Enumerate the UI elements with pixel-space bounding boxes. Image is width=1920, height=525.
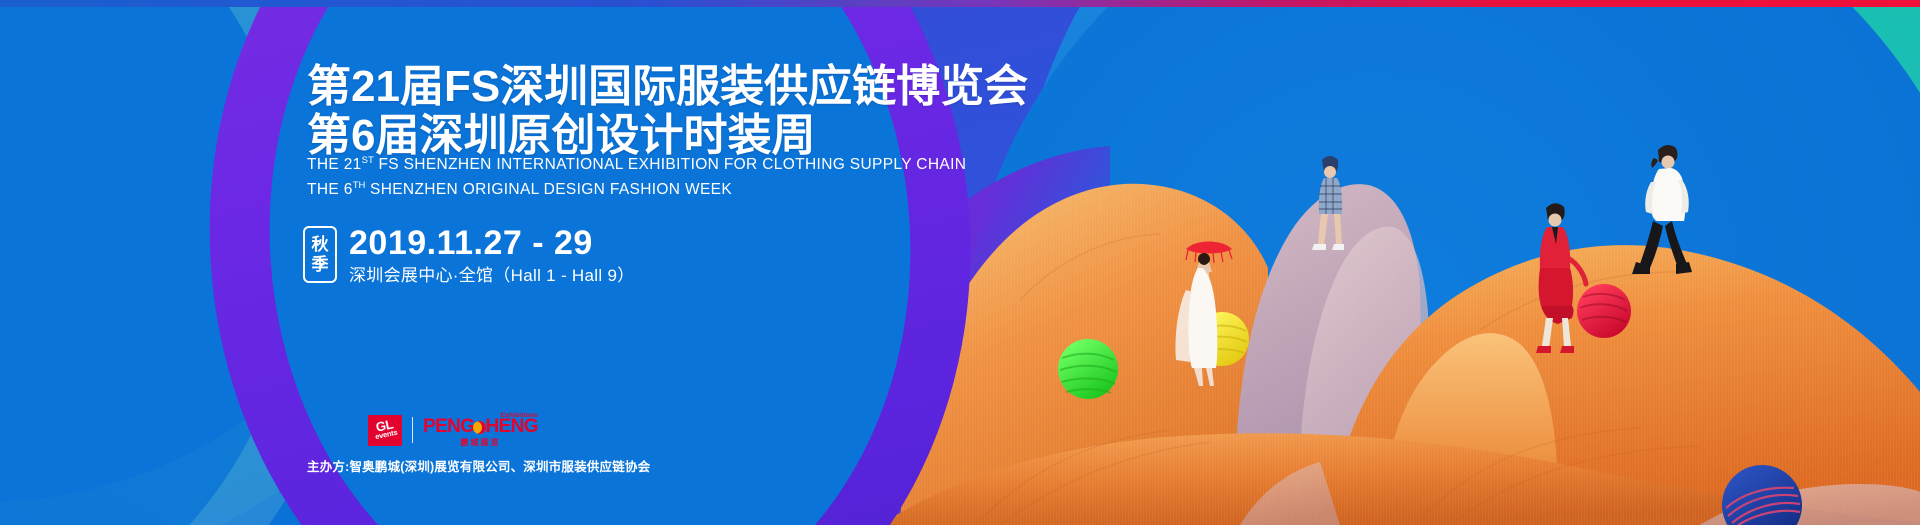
- event-date: 2019.11.27 - 29: [349, 224, 635, 262]
- subtitle-line-2-post: SHENZHEN ORIGINAL DESIGN FASHION WEEK: [365, 181, 732, 198]
- subtitle-line-2-pre: THE 6: [307, 181, 353, 198]
- subtitle-line-1-pre: THE 21: [307, 156, 362, 173]
- subtitle-line-1-ordinal: ST: [362, 155, 374, 166]
- date-text-block: 2019.11.27 - 29 深圳会展中心·全馆（Hall 1 - Hall …: [349, 224, 635, 288]
- season-badge-char-1: 秋: [312, 235, 329, 255]
- banner-subtitle-english: THE 21ST FS SHENZHEN INTERNATIONAL EXHIB…: [307, 150, 966, 200]
- event-venue: 深圳会展中心·全馆（Hall 1 - Hall 9）: [349, 264, 635, 288]
- banner-content: 第21届FS深圳国际服装供应链博览会 第6届深圳原创设计时装周 THE 21ST…: [0, 0, 1920, 525]
- pengcheng-wordmark-part-1: PENG: [423, 416, 474, 437]
- season-badge: 秋 季: [303, 226, 337, 283]
- pengcheng-exhibitions-logo: Exhibitions PENGHENG 鹏城展览: [423, 413, 538, 447]
- subtitle-line-1: THE 21ST FS SHENZHEN INTERNATIONAL EXHIB…: [307, 156, 966, 173]
- sponsor-logo-row: GL events Exhibitions PENGHENG 鹏城展览: [368, 412, 538, 448]
- pengcheng-wordmark-part-2: HENG: [485, 416, 538, 437]
- gl-events-logo-text: GL events: [372, 419, 398, 441]
- expo-banner: 第21届FS深圳国际服装供应链博览会 第6届深圳原创设计时装周 THE 21ST…: [0, 0, 1920, 525]
- subtitle-line-2-ordinal: TH: [353, 180, 366, 191]
- logo-divider: [412, 417, 413, 443]
- season-badge-char-2: 季: [312, 255, 329, 275]
- pengcheng-wordmark: PENGHENG: [423, 417, 538, 436]
- pengcheng-logo-chinese: 鹏城展览: [423, 437, 538, 448]
- organizer-line: 主办方:智奥鹏城(深圳)展览有限公司、深圳市服装供应链协会: [307, 459, 650, 475]
- subtitle-line-2: THE 6TH SHENZHEN ORIGINAL DESIGN FASHION…: [307, 175, 966, 200]
- gl-events-logo: GL events: [368, 415, 402, 446]
- event-date-row: 秋 季 2019.11.27 - 29 深圳会展中心·全馆（Hall 1 - H…: [303, 224, 635, 288]
- title-line-1: 第21届FS深圳国际服装供应链博览会: [307, 62, 1028, 111]
- subtitle-line-1-post: FS SHENZHEN INTERNATIONAL EXHIBITION FOR…: [374, 156, 966, 173]
- banner-title-chinese: 第21届FS深圳国际服装供应链博览会 第6届深圳原创设计时装周: [307, 62, 1028, 160]
